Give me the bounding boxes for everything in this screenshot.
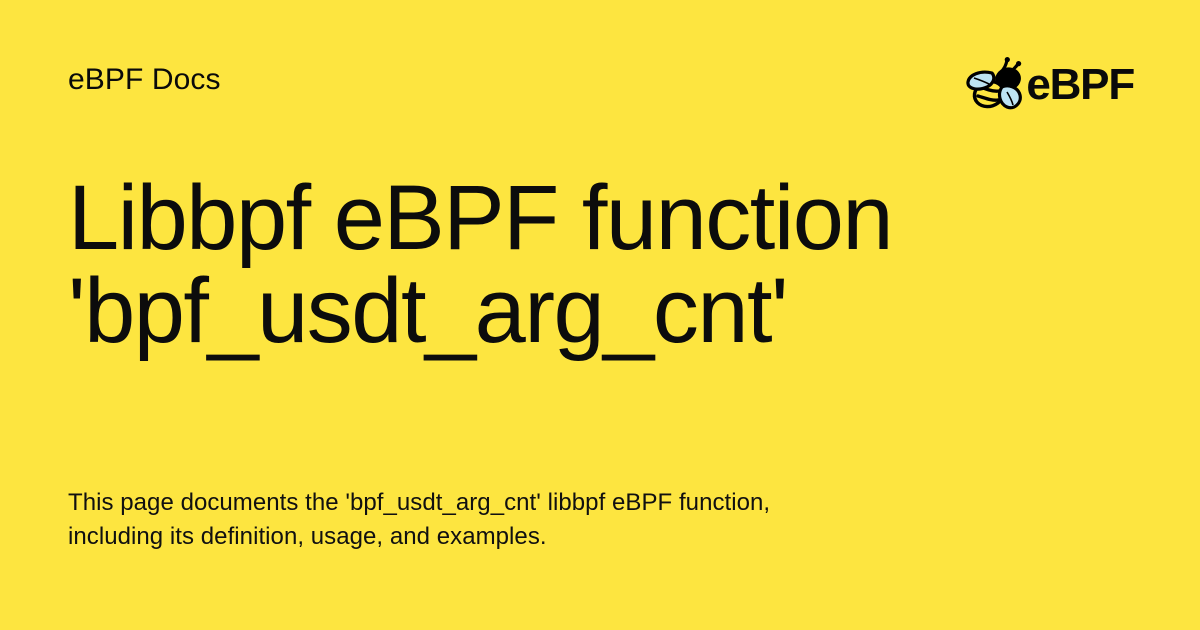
site-label: eBPF Docs xyxy=(68,62,221,98)
card-header: eBPF Docs xyxy=(68,62,1132,118)
page-description: This page documents the 'bpf_usdt_arg_cn… xyxy=(68,486,858,554)
og-card: eBPF Docs xyxy=(0,0,1200,630)
description-block: This page documents the 'bpf_usdt_arg_cn… xyxy=(68,486,858,554)
ebpf-logo[interactable]: eBPF xyxy=(966,56,1134,114)
title-block: Libbpf eBPF function 'bpf_usdt_arg_cnt' xyxy=(68,172,928,358)
ebpf-bee-logo-icon xyxy=(966,56,1028,114)
page-title: Libbpf eBPF function 'bpf_usdt_arg_cnt' xyxy=(68,172,928,358)
ebpf-wordmark: eBPF xyxy=(1026,63,1134,107)
